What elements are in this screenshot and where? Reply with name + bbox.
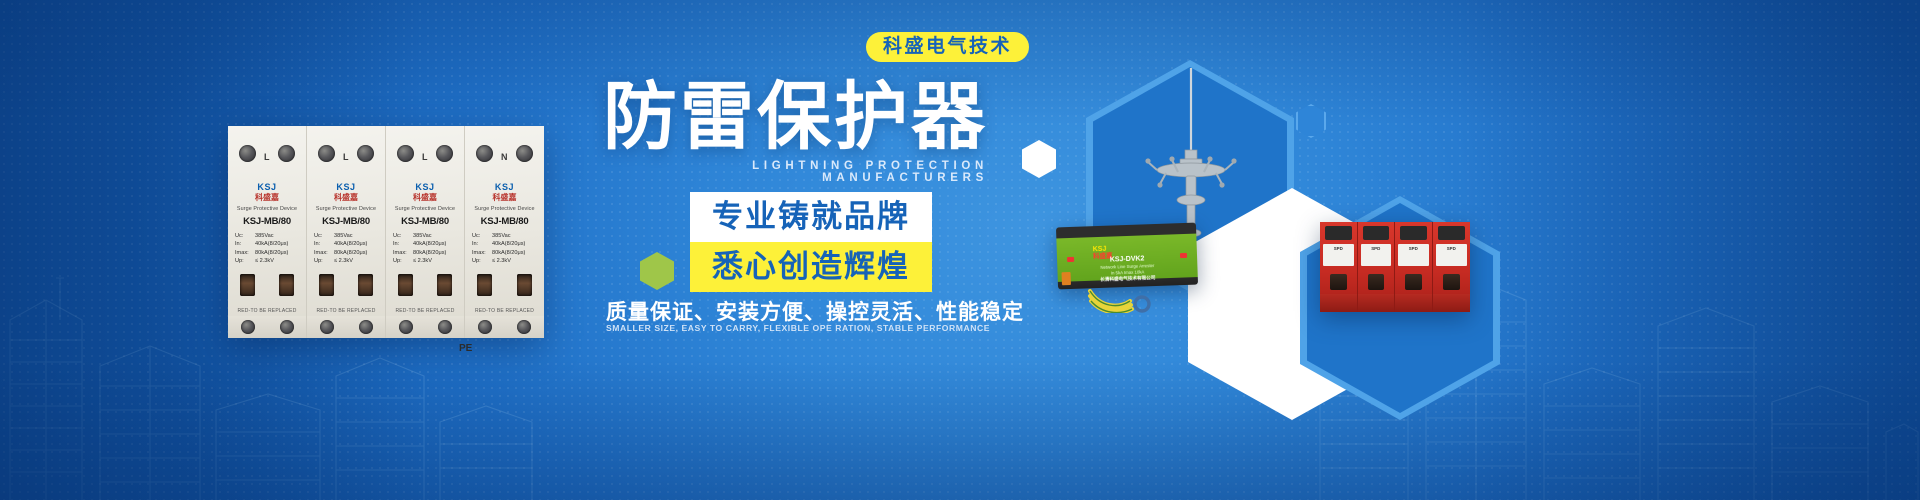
- slogan-block: 专业铸就品牌 悉心创造辉煌: [690, 192, 932, 292]
- page-title: 防雷保护器: [588, 80, 988, 154]
- module-spec-list: Uc:385Vac In:40kA(8/20μs) Imax:80kA(8/20…: [314, 232, 380, 266]
- module-footnote: RED-TO BE REPLACED: [465, 308, 544, 314]
- spec-key: In:: [314, 240, 334, 248]
- spec-key: Imax:: [235, 249, 255, 257]
- spec-key: In:: [393, 240, 413, 248]
- module-brand: KSJ: [386, 182, 464, 192]
- module-cap: [1400, 226, 1427, 240]
- spec-value: ≤ 2.3kV: [255, 257, 274, 265]
- spec-value: ≤ 2.3kV: [413, 257, 432, 265]
- feature-list-en: SMALLER SIZE, EASY TO CARRY, FLEXIBLE OP…: [606, 323, 966, 333]
- spec-key: Imax:: [314, 249, 334, 257]
- module-label: SPD: [1436, 244, 1468, 266]
- red-spd-module: SPD: [1358, 222, 1396, 312]
- spec-key: Uc:: [235, 232, 255, 240]
- spd-module: L KSJ 科盛嘉 Surge Protective Device KSJ-MB…: [386, 126, 465, 338]
- screw-terminal-icon: [359, 320, 373, 334]
- screw-terminal-icon: [320, 320, 334, 334]
- spec-key: Uc:: [393, 232, 413, 240]
- red-spd-label: SPD: [1361, 246, 1392, 251]
- spec-key: Up:: [314, 257, 334, 265]
- spec-value: 385Vac: [255, 232, 274, 240]
- red-spd-label: SPD: [1436, 246, 1468, 251]
- module-cap: [1363, 226, 1390, 240]
- status-window-icon: [1330, 274, 1347, 290]
- red-spd-module: SPD: [1395, 222, 1433, 312]
- spec-key: Uc:: [472, 232, 492, 240]
- terminal-row-bottom: [386, 316, 464, 338]
- terminal-row-bottom: [465, 316, 544, 338]
- page-title-english: LIGHTNING PROTECTION MANUFACTURERS: [588, 160, 988, 184]
- spec-value: ≤ 2.3kV: [492, 257, 511, 265]
- spec-value: 385Vac: [334, 232, 353, 240]
- status-window-row: [386, 272, 464, 298]
- status-window-icon: [398, 274, 413, 296]
- module-cap: [1325, 226, 1352, 240]
- screw-terminal-icon: [478, 320, 492, 334]
- spec-value: 80kA(8/20μs): [413, 249, 446, 257]
- module-subtitle: Surge Protective Device: [465, 206, 544, 212]
- spd-module: L KSJ 科盛嘉 Surge Protective Device KSJ-MB…: [228, 126, 307, 338]
- module-brand-cn: 科盛嘉: [465, 192, 544, 203]
- green-hexagon-decoration: [640, 252, 674, 290]
- module-brand-cn: 科盛嘉: [386, 192, 464, 203]
- red-spd-label: SPD: [1323, 246, 1354, 251]
- spec-key: In:: [472, 240, 492, 248]
- brand-tagline-pill: 科盛电气技术: [866, 32, 1029, 62]
- status-window-row: [307, 272, 385, 298]
- surge-protector-product-photo: L KSJ 科盛嘉 Surge Protective Device KSJ-MB…: [228, 126, 544, 338]
- spec-value: 80kA(8/20μs): [255, 249, 288, 257]
- module-subtitle: Surge Protective Device: [307, 206, 385, 212]
- module-model: KSJ-MB/80: [307, 216, 385, 227]
- module-base: [1320, 294, 1357, 312]
- status-window-row: [228, 272, 306, 298]
- module-footnote: RED-TO BE REPLACED: [228, 308, 306, 314]
- screw-terminal-icon: [517, 320, 531, 334]
- module-brand: KSJ: [307, 182, 385, 192]
- slogan-line-2: 悉心创造辉煌: [690, 242, 932, 292]
- status-window-icon: [517, 274, 532, 296]
- module-brand-cn: 科盛嘉: [228, 192, 306, 203]
- promo-banner: L KSJ 科盛嘉 Surge Protective Device KSJ-MB…: [0, 0, 1920, 500]
- module-spec-list: Uc:385Vac In:40kA(8/20μs) Imax:80kA(8/20…: [472, 232, 539, 266]
- polarity-label: L: [307, 152, 385, 162]
- spec-value: 40kA(8/20μs): [334, 240, 367, 248]
- module-footnote: RED-TO BE REPLACED: [386, 308, 464, 314]
- polarity-label: L: [386, 152, 464, 162]
- module-model: KSJ-MB/80: [386, 216, 464, 227]
- ground-terminal-label: PE: [459, 343, 472, 354]
- spec-value: 40kA(8/20μs): [413, 240, 446, 248]
- module-model: KSJ-MB/80: [228, 216, 306, 227]
- module-label: SPD: [1398, 244, 1429, 266]
- status-window-icon: [477, 274, 492, 296]
- terminal-row-bottom: [228, 316, 306, 338]
- spec-key: Up:: [393, 257, 413, 265]
- slogan-line-1: 专业铸就品牌: [690, 192, 932, 242]
- red-surge-protector-photo: SPD SPD SPD SPD: [1320, 222, 1470, 312]
- screw-terminal-icon: [438, 320, 452, 334]
- polarity-label: L: [228, 152, 306, 162]
- ground-wire-with-lug: [1084, 283, 1154, 313]
- module-label: SPD: [1361, 244, 1392, 266]
- white-hexagon-decoration: [1022, 140, 1056, 178]
- spec-value: 40kA(8/20μs): [492, 240, 525, 248]
- status-window-icon: [1443, 274, 1461, 290]
- status-window-icon: [1405, 274, 1422, 290]
- spec-value: 80kA(8/20μs): [334, 249, 367, 257]
- module-brand: KSJ: [228, 182, 306, 192]
- spec-value: 40kA(8/20μs): [255, 240, 288, 248]
- spec-value: ≤ 2.3kV: [334, 257, 353, 265]
- red-spd-module: SPD: [1433, 222, 1471, 312]
- terminal-row-bottom: [307, 316, 385, 338]
- status-window-icon: [279, 274, 294, 296]
- module-brand: KSJ: [465, 182, 544, 192]
- status-window-row: [465, 272, 544, 298]
- spec-value: 80kA(8/20μs): [492, 249, 525, 257]
- module-footnote: RED-TO BE REPLACED: [307, 308, 385, 314]
- spec-key: Imax:: [393, 249, 413, 257]
- module-base: [1433, 294, 1471, 312]
- screw-terminal-icon: [280, 320, 294, 334]
- module-model: KSJ-MB/80: [465, 216, 544, 227]
- module-subtitle: Surge Protective Device: [386, 206, 464, 212]
- status-window-icon: [240, 274, 255, 296]
- red-spd-label: SPD: [1398, 246, 1429, 251]
- lightning-rod-product-photo: [1136, 66, 1246, 246]
- module-label: SPD: [1323, 244, 1354, 266]
- status-window-icon: [319, 274, 334, 296]
- blue-hexagon-decoration: [1296, 104, 1326, 138]
- spec-key: Imax:: [472, 249, 492, 257]
- spec-key: In:: [235, 240, 255, 248]
- status-window-icon: [437, 274, 452, 296]
- feature-list-cn: 质量保证、安装方便、操控灵活、性能稳定: [606, 296, 966, 326]
- network-surge-arrester-photo: KSJ 科盛嘉 KSJ-DVK2 Network Line Surge Arre…: [1056, 223, 1198, 290]
- spec-value: 385Vac: [492, 232, 511, 240]
- spd-module-group: L KSJ 科盛嘉 Surge Protective Device KSJ-MB…: [228, 126, 544, 338]
- spec-key: Up:: [472, 257, 492, 265]
- status-window-icon: [358, 274, 373, 296]
- spec-key: Up:: [235, 257, 255, 265]
- polarity-label: N: [465, 152, 544, 162]
- spec-key: Uc:: [314, 232, 334, 240]
- module-base: [1395, 294, 1432, 312]
- spd-module: L KSJ 科盛嘉 Surge Protective Device KSJ-MB…: [307, 126, 386, 338]
- status-window-icon: [1368, 274, 1385, 290]
- module-brand-cn: 科盛嘉: [307, 192, 385, 203]
- spec-value: 385Vac: [413, 232, 432, 240]
- module-spec-list: Uc:385Vac In:40kA(8/20μs) Imax:80kA(8/20…: [393, 232, 459, 266]
- module-cap: [1438, 226, 1466, 240]
- screw-terminal-icon: [399, 320, 413, 334]
- module-base: [1358, 294, 1395, 312]
- module-subtitle: Surge Protective Device: [228, 206, 306, 212]
- module-spec-list: Uc:385Vac In:40kA(8/20μs) Imax:80kA(8/20…: [235, 232, 301, 266]
- spd-module: N KSJ 科盛嘉 Surge Protective Device KSJ-MB…: [465, 126, 544, 338]
- screw-terminal-icon: [241, 320, 255, 334]
- red-spd-module: SPD: [1320, 222, 1358, 312]
